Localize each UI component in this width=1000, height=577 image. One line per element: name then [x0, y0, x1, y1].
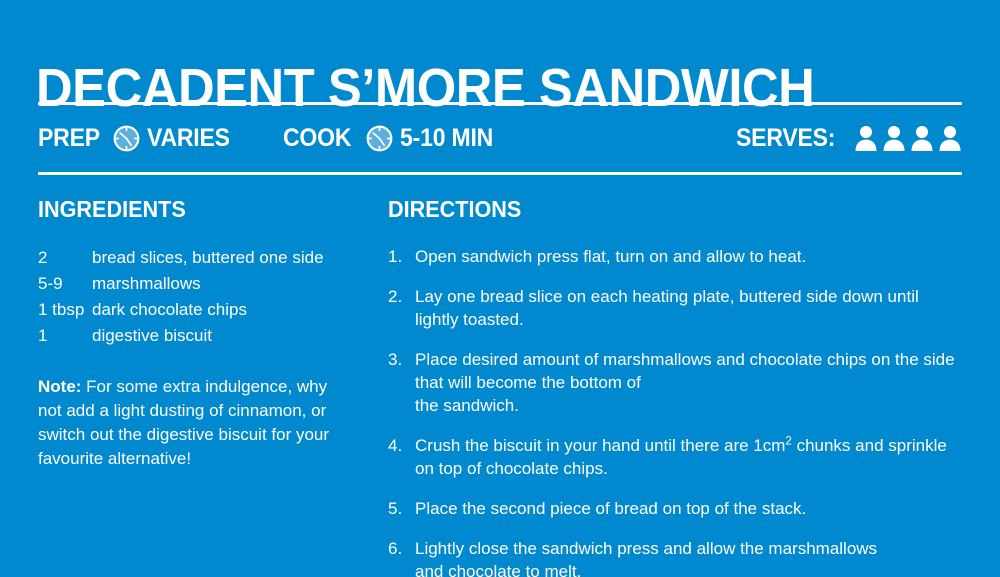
serves-group: SERVES: [736, 124, 962, 153]
prep-value: VARIES [147, 124, 230, 153]
direction-step: 1.Open sandwich press flat, turn on and … [388, 245, 966, 268]
cook-value: 5-10 MIN [400, 124, 493, 153]
ingredient-row: 2bread slices, buttered one side [38, 245, 368, 271]
direction-step-text: Lay one bread slice on each heating plat… [415, 285, 966, 331]
person-icon [882, 125, 906, 151]
direction-step-number: 3. [388, 348, 415, 417]
ingredient-amount: 5-9 [38, 271, 92, 297]
direction-step-number: 5. [388, 497, 415, 520]
clock-icon [358, 125, 400, 152]
ingredients-section: INGREDIENTS 2bread slices, buttered one … [38, 196, 368, 488]
recipe-card: DECADENT S’MORE SANDWICH PREP VARIES COO… [0, 0, 1000, 577]
directions-section: DIRECTIONS 1.Open sandwich press flat, t… [388, 196, 966, 577]
direction-step-number: 1. [388, 245, 415, 268]
ingredient-name: dark chocolate chips [92, 297, 368, 323]
direction-step: 4.Crush the biscuit in your hand until t… [388, 434, 966, 480]
direction-step-text: Open sandwich press flat, turn on and al… [415, 245, 966, 268]
ingredient-row: 5-9marshmallows [38, 271, 368, 297]
ingredient-name: bread slices, buttered one side [92, 245, 368, 271]
note-text: For some extra indulgence, why not add a… [38, 377, 329, 468]
clock-icon [105, 125, 147, 152]
directions-list: 1.Open sandwich press flat, turn on and … [388, 245, 966, 577]
ingredient-amount: 1 [38, 323, 92, 349]
person-icon [910, 125, 934, 151]
ingredient-amount: 1 tbsp [38, 297, 92, 323]
divider-bottom [38, 172, 962, 175]
direction-step: 3.Place desired amount of marshmallows a… [388, 348, 966, 417]
direction-step: 5.Place the second piece of bread on top… [388, 497, 966, 520]
direction-step-text: Place desired amount of marshmallows and… [415, 348, 966, 417]
directions-heading: DIRECTIONS [388, 196, 931, 223]
person-icon [854, 125, 878, 151]
prep-label: PREP [38, 124, 100, 153]
person-icon [938, 125, 962, 151]
prep-time-group: PREP VARIES [38, 124, 237, 153]
divider-top [38, 102, 962, 105]
note-label: Note: [38, 377, 81, 396]
direction-step-text: Place the second piece of bread on top o… [415, 497, 966, 520]
ingredients-heading: INGREDIENTS [38, 196, 348, 223]
ingredients-note: Note: For some extra indulgence, why not… [38, 375, 330, 471]
direction-step: 6.Lightly close the sandwich press and a… [388, 537, 966, 577]
ingredients-list: 2bread slices, buttered one side5-9marsh… [38, 245, 368, 349]
ingredient-name: digestive biscuit [92, 323, 368, 349]
direction-step-number: 2. [388, 285, 415, 331]
ingredient-amount: 2 [38, 245, 92, 271]
direction-step-number: 4. [388, 434, 415, 480]
ingredient-name: marshmallows [92, 271, 368, 297]
direction-step-text: Lightly close the sandwich press and all… [415, 537, 966, 577]
direction-step-text: Crush the biscuit in your hand until the… [415, 434, 966, 480]
direction-step: 2.Lay one bread slice on each heating pl… [388, 285, 966, 331]
cook-label: COOK [283, 124, 351, 153]
serves-label: SERVES: [736, 124, 835, 153]
ingredient-row: 1 tbspdark chocolate chips [38, 297, 368, 323]
serves-people [854, 125, 962, 151]
recipe-meta-row: PREP VARIES COOK [38, 118, 962, 158]
cook-time-group: COOK 5-10 MIN [283, 124, 500, 153]
direction-step-number: 6. [388, 537, 415, 577]
page-title: DECADENT S’MORE SANDWICH [36, 58, 814, 118]
ingredient-row: 1digestive biscuit [38, 323, 368, 349]
